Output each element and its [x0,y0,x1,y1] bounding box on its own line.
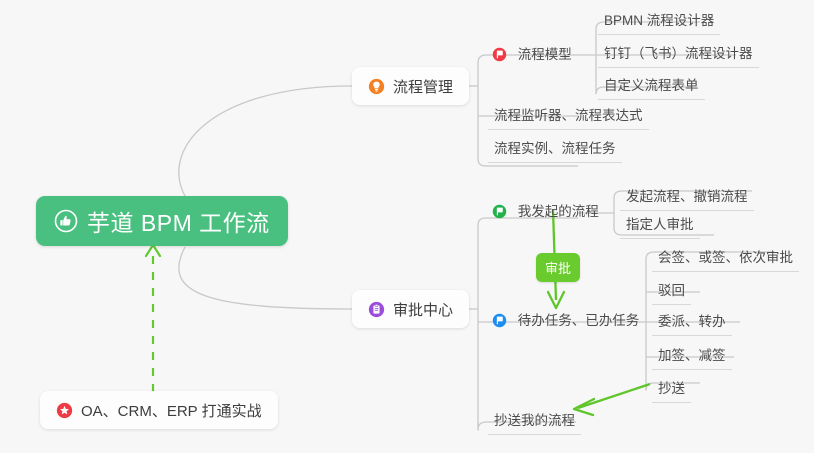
leaf-label-add-remove-sign: 加签、减签 [658,347,726,365]
leaf-process-instance[interactable]: 流程实例、流程任务 [488,140,622,163]
branch-label-process-management: 流程管理 [393,76,453,97]
leaf-assignee-approval[interactable]: 指定人审批 [620,216,700,239]
leaf-reject[interactable]: 驳回 [652,282,691,305]
leaf-process-listener[interactable]: 流程监听器、流程表达式 [488,107,649,130]
flag-icon-blue [492,313,507,328]
leaf-label-process-listener: 流程监听器、流程表达式 [494,107,643,125]
star-badge-icon [56,402,73,419]
leaf-bpmn-designer[interactable]: BPMN 流程设计器 [598,12,720,35]
leaf-label-process-instance: 流程实例、流程任务 [494,140,616,158]
flag-icon-red [492,47,507,62]
dashed-green-arrow [146,245,160,392]
leaf-label-custom-form: 自定义流程表单 [604,77,699,95]
bottom-note-node[interactable]: OA、CRM、ERP 打通实战 [40,391,278,429]
approve-tag-label: 审批 [545,261,571,276]
thumbs-up-icon [54,209,78,233]
root-node[interactable]: 芋道 BPM 工作流 [36,196,288,246]
leaf-label-todo-done-tasks: 待办任务、已办任务 [518,312,640,330]
leaf-label-cc-to-me: 抄送我的流程 [494,412,575,430]
approve-tag[interactable]: 审批 [536,253,580,282]
leaf-add-remove-sign[interactable]: 加签、减签 [652,347,732,370]
leaf-label-assignee-approval: 指定人审批 [626,216,694,234]
leaf-label-process-model: 流程模型 [518,46,572,64]
branch-node-process-management[interactable]: 流程管理 [352,67,469,105]
clipboard-icon [368,301,385,318]
leaf-label-dingtalk-designer: 钉钉（飞书）流程设计器 [604,45,753,63]
mindmap-canvas: 芋道 BPM 工作流 OA、CRM、ERP 打通实战 流程管理 [0,0,814,453]
leaf-cc[interactable]: 抄送 [652,380,691,403]
leaf-label-bpmn-designer: BPMN 流程设计器 [604,12,714,30]
leaf-label-start-cancel-process: 发起流程、撤销流程 [626,188,748,206]
leaf-label-reject: 驳回 [658,282,685,300]
branch-label-approval-center: 审批中心 [393,299,453,320]
bottom-note-label: OA、CRM、ERP 打通实战 [81,400,262,421]
leaf-label-cc: 抄送 [658,380,685,398]
leaf-label-my-started-process: 我发起的流程 [518,203,599,221]
branch-node-approval-center[interactable]: 审批中心 [352,290,469,328]
leaf-cc-to-me[interactable]: 抄送我的流程 [488,412,581,435]
leaf-delegate-transfer[interactable]: 委派、转办 [652,313,732,336]
leaf-todo-done-tasks[interactable]: 待办任务、已办任务 [492,312,645,334]
leaf-label-countersign: 会签、或签、依次审批 [658,249,793,267]
leaf-my-started-process[interactable]: 我发起的流程 [492,203,605,225]
leaf-process-model[interactable]: 流程模型 [492,46,578,68]
cc-flow-arrow [574,384,650,415]
lightbulb-icon [368,78,385,95]
leaf-dingtalk-designer[interactable]: 钉钉（飞书）流程设计器 [598,45,759,68]
root-label: 芋道 BPM 工作流 [87,204,270,238]
leaf-start-cancel-process[interactable]: 发起流程、撤销流程 [620,188,754,211]
flag-icon-green [492,204,507,219]
leaf-custom-form[interactable]: 自定义流程表单 [598,77,705,100]
leaf-countersign[interactable]: 会签、或签、依次审批 [652,249,799,272]
leaf-label-delegate-transfer: 委派、转办 [658,313,726,331]
